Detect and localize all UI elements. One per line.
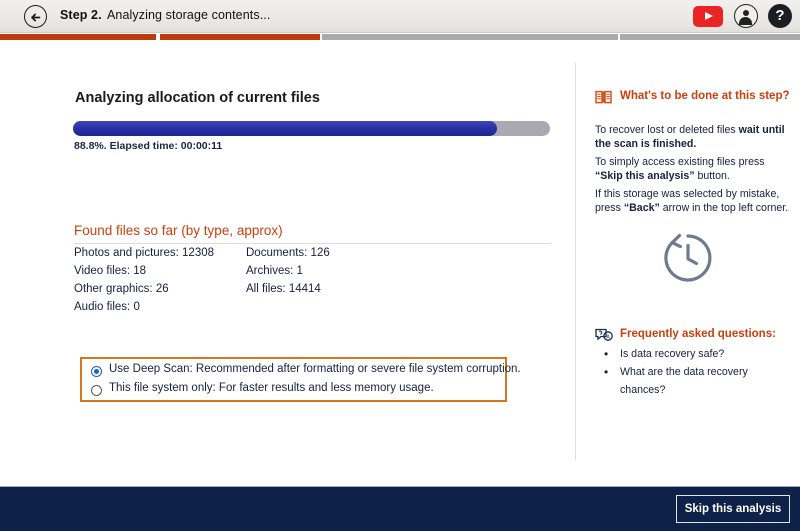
book-icon (595, 90, 612, 109)
user-account-icon[interactable] (734, 4, 758, 28)
faq-item[interactable]: Is data recovery safe? (602, 345, 792, 363)
radio-deep-scan[interactable] (91, 366, 102, 377)
help-sidebar: What's to be done at this step? To recov… (576, 40, 800, 486)
found-files-heading: Found files so far (by type, approx) (74, 223, 283, 238)
step-label: Step 2. (60, 8, 102, 22)
youtube-icon[interactable] (693, 6, 723, 27)
scan-option-deep-label: Use Deep Scan: Recommended after formatt… (109, 363, 521, 375)
stat-cell-left: Video files: 18 (74, 265, 146, 277)
help-paragraph-2: To simply access existing files press “S… (595, 155, 789, 183)
page-title: Analyzing storage contents... (107, 8, 270, 22)
stat-cell-left: Photos and pictures: 12308 (74, 247, 214, 259)
progress-caption: 88.8%. Elapsed time: 00:00:11 (74, 140, 222, 152)
scan-progress-fill (73, 121, 497, 136)
stat-row: Video files: 18Archives: 1 (74, 265, 551, 283)
stat-row: Audio files: 0 (74, 301, 551, 319)
scan-progress-track (73, 121, 550, 136)
title-bar: Step 2. Analyzing storage contents... ? (0, 0, 800, 33)
help-emphasis: “Back” (624, 202, 660, 214)
footer-bar: Skip this analysis (0, 486, 800, 531)
svg-text:A: A (606, 334, 610, 340)
avatar-head (743, 10, 749, 16)
stat-row: Other graphics: 26All files: 14414 (74, 283, 551, 301)
main-panel: Analyzing allocation of current files 88… (0, 40, 575, 486)
app-window: Step 2. Analyzing storage contents... ? … (0, 0, 800, 531)
stat-cell-right: All files: 14414 (246, 283, 321, 295)
stat-cell-right: Archives: 1 (246, 265, 303, 277)
analyzing-title: Analyzing allocation of current files (75, 90, 320, 106)
stat-cell-left: Audio files: 0 (74, 301, 140, 313)
skip-this-analysis-button[interactable]: Skip this analysis (676, 495, 790, 523)
faq-heading: Frequently asked questions: (620, 328, 776, 340)
help-icon[interactable]: ? (768, 4, 792, 28)
help-paragraph-1: To recover lost or deleted files wait un… (595, 123, 789, 151)
scan-options-box: Use Deep Scan: Recommended after formatt… (80, 357, 507, 402)
help-paragraph-3: If this storage was selected by mistake,… (595, 187, 789, 215)
header-icon-group: ? (687, 4, 792, 29)
stat-cell-right: Documents: 126 (246, 247, 330, 259)
history-clock-icon (660, 230, 716, 291)
back-button[interactable] (24, 5, 47, 28)
faq-item[interactable]: What are the data recovery chances? (602, 363, 792, 399)
stat-cell-left: Other graphics: 26 (74, 283, 169, 295)
radio-file-system-only[interactable] (91, 385, 102, 396)
stat-row: Photos and pictures: 12308Documents: 126 (74, 247, 551, 265)
faq-list: Is data recovery safe?What are the data … (602, 345, 792, 399)
sidebar-help-heading: What's to be done at this step? (620, 90, 790, 102)
scan-option-filesystem-label: This file system only: For faster result… (109, 382, 434, 394)
back-arrow-icon (28, 9, 45, 26)
help-emphasis: “Skip this analysis” (595, 170, 695, 182)
found-files-rule (74, 243, 551, 244)
avatar-body (739, 17, 752, 25)
help-emphasis: wait until the scan is finished. (595, 124, 785, 150)
found-files-stats: Photos and pictures: 12308Documents: 126… (74, 247, 551, 319)
